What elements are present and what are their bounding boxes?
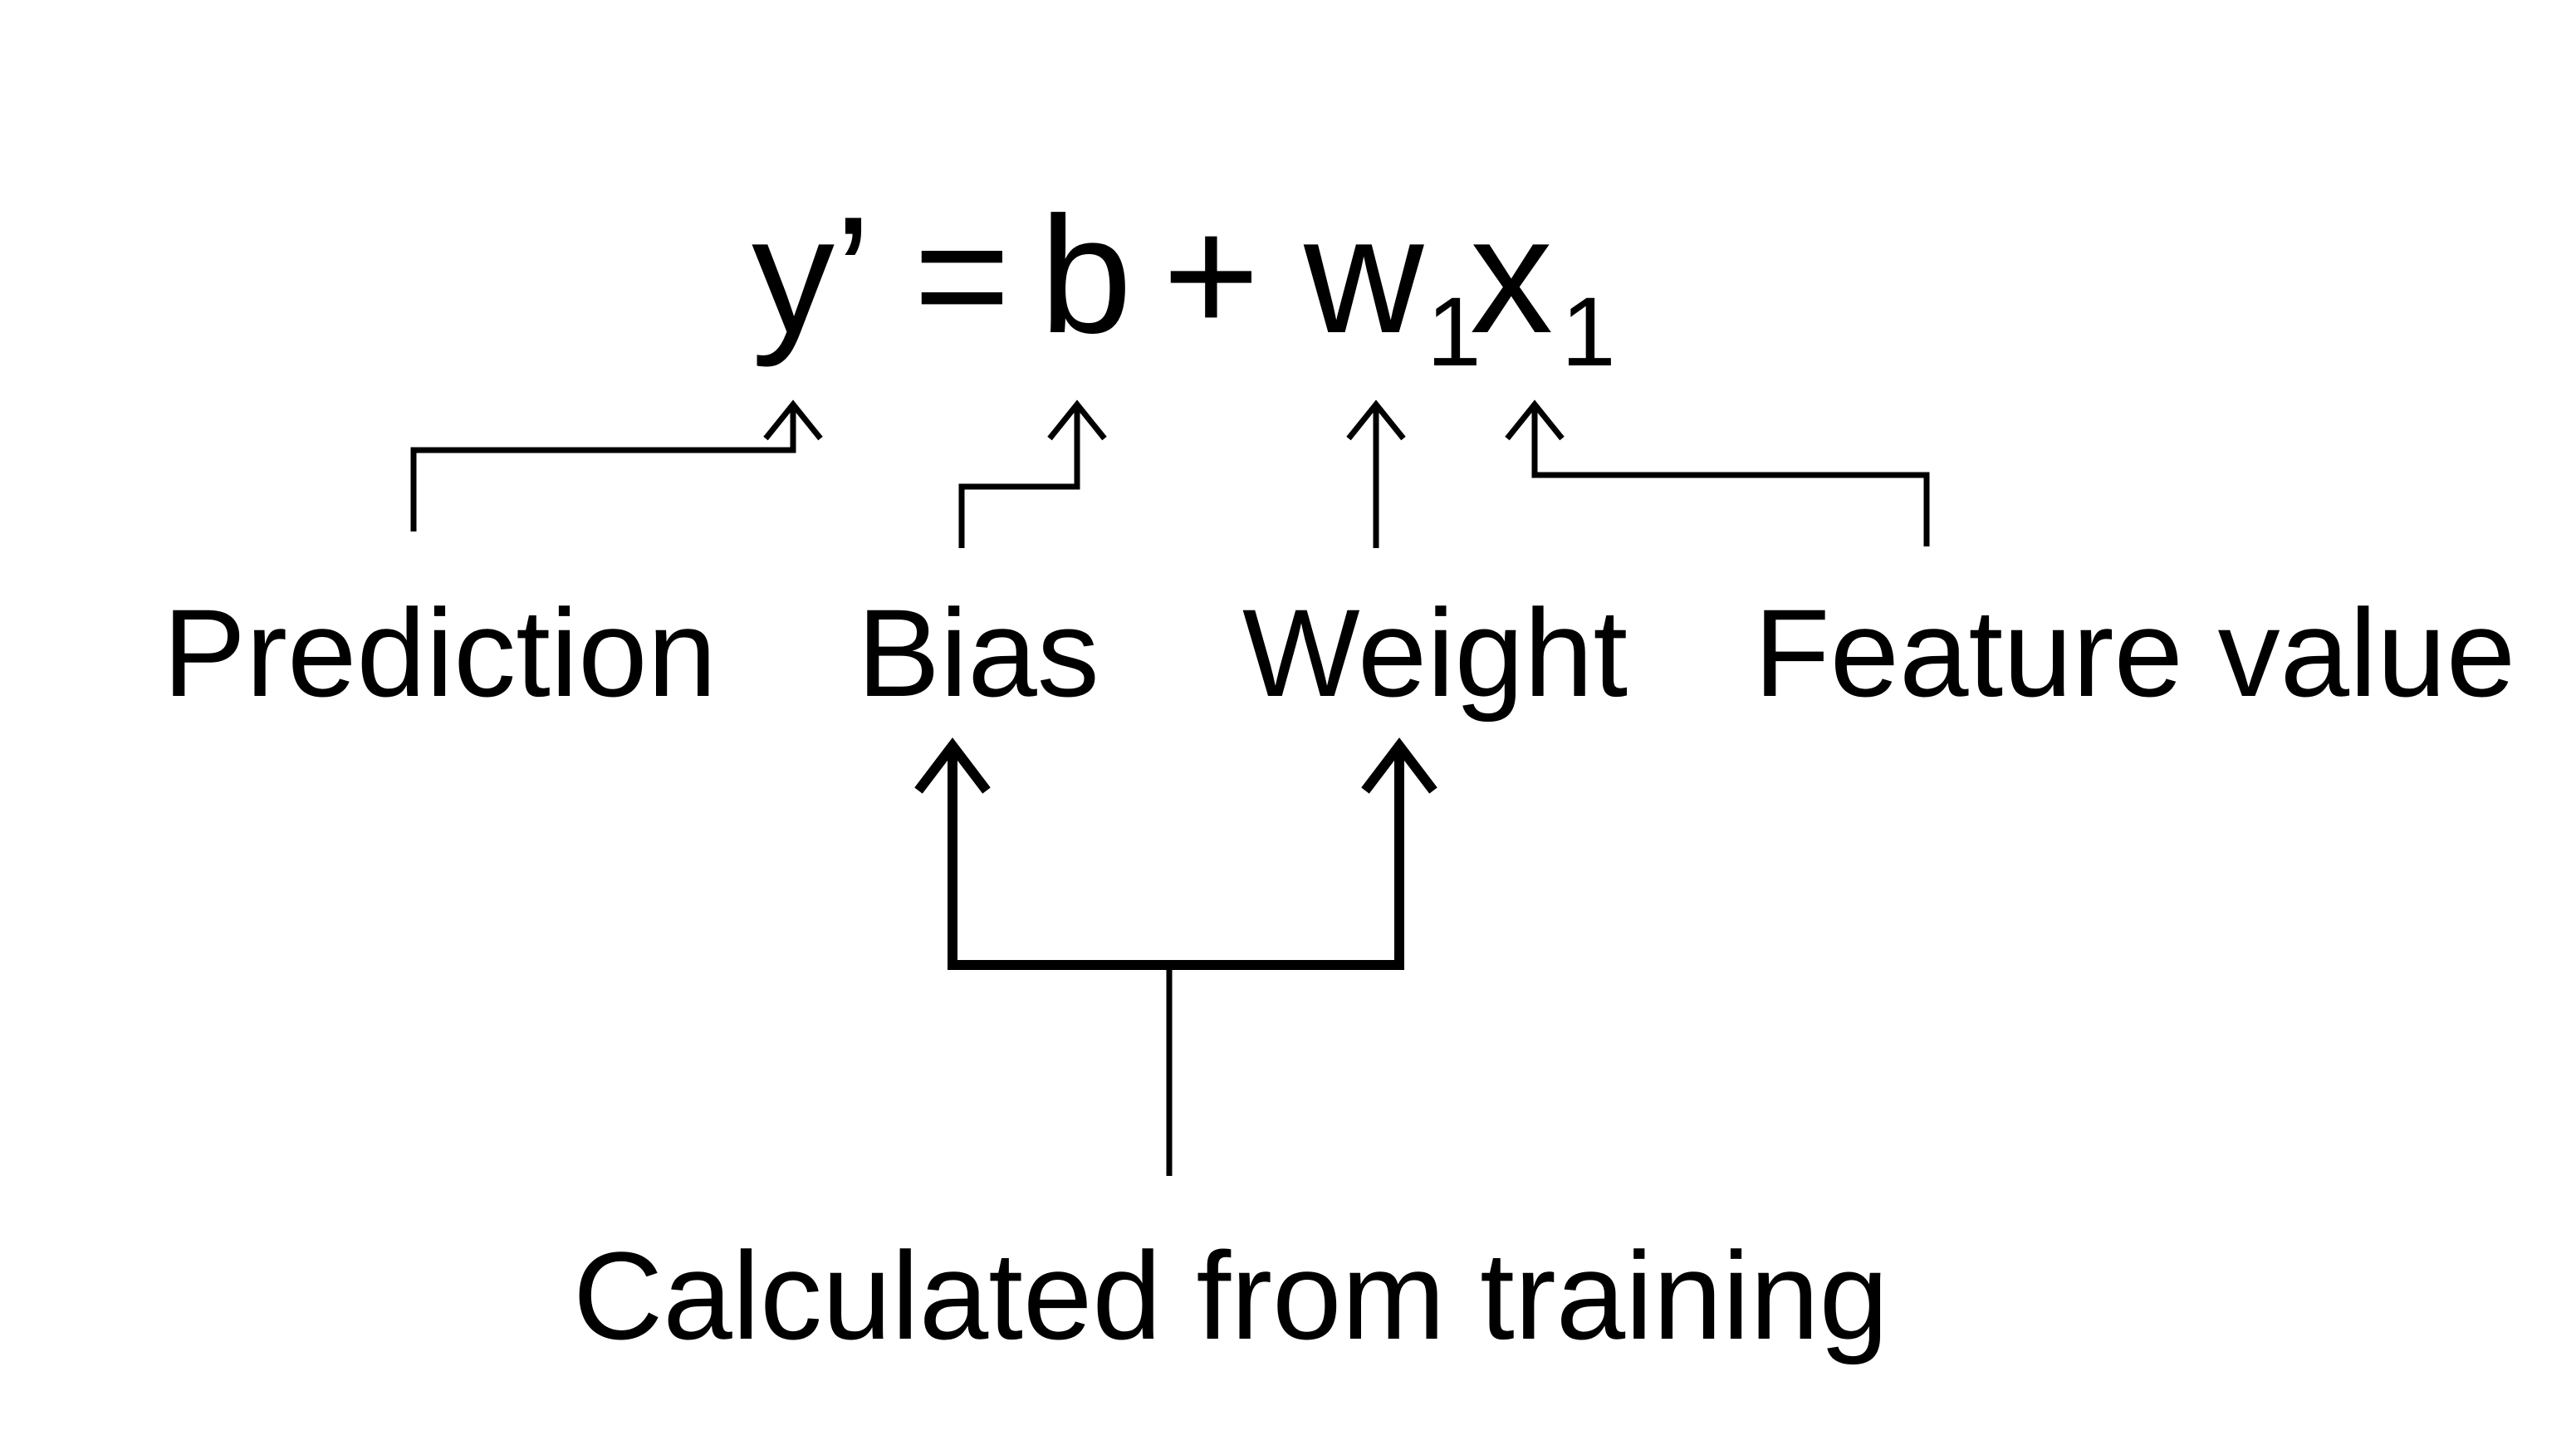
diagram-canvas: y’ = b + w 1 x 1 [0,0,2576,1440]
equation-bias-term: b [1040,183,1132,368]
label-row: Prediction Bias Weight Feature value [163,583,2515,722]
label-weight: Weight [1242,583,1628,722]
equation-plus-sign: + [1163,183,1260,368]
equation-equals-sign: = [913,183,1011,368]
note-calculated-from-training: Calculated from training [573,1226,1888,1365]
equation-feature-symbol: x [1470,183,1553,368]
label-prediction: Prediction [163,583,717,722]
label-feature-value: Feature value [1754,583,2515,722]
equation-annotation-diagram: y’ = b + w 1 x 1 [0,0,2576,1440]
equation-feature-subscript: 1 [1561,277,1616,387]
label-bias: Bias [857,583,1099,722]
equation-lhs: y’ [752,183,871,368]
equation-weight-symbol: w [1303,183,1424,368]
